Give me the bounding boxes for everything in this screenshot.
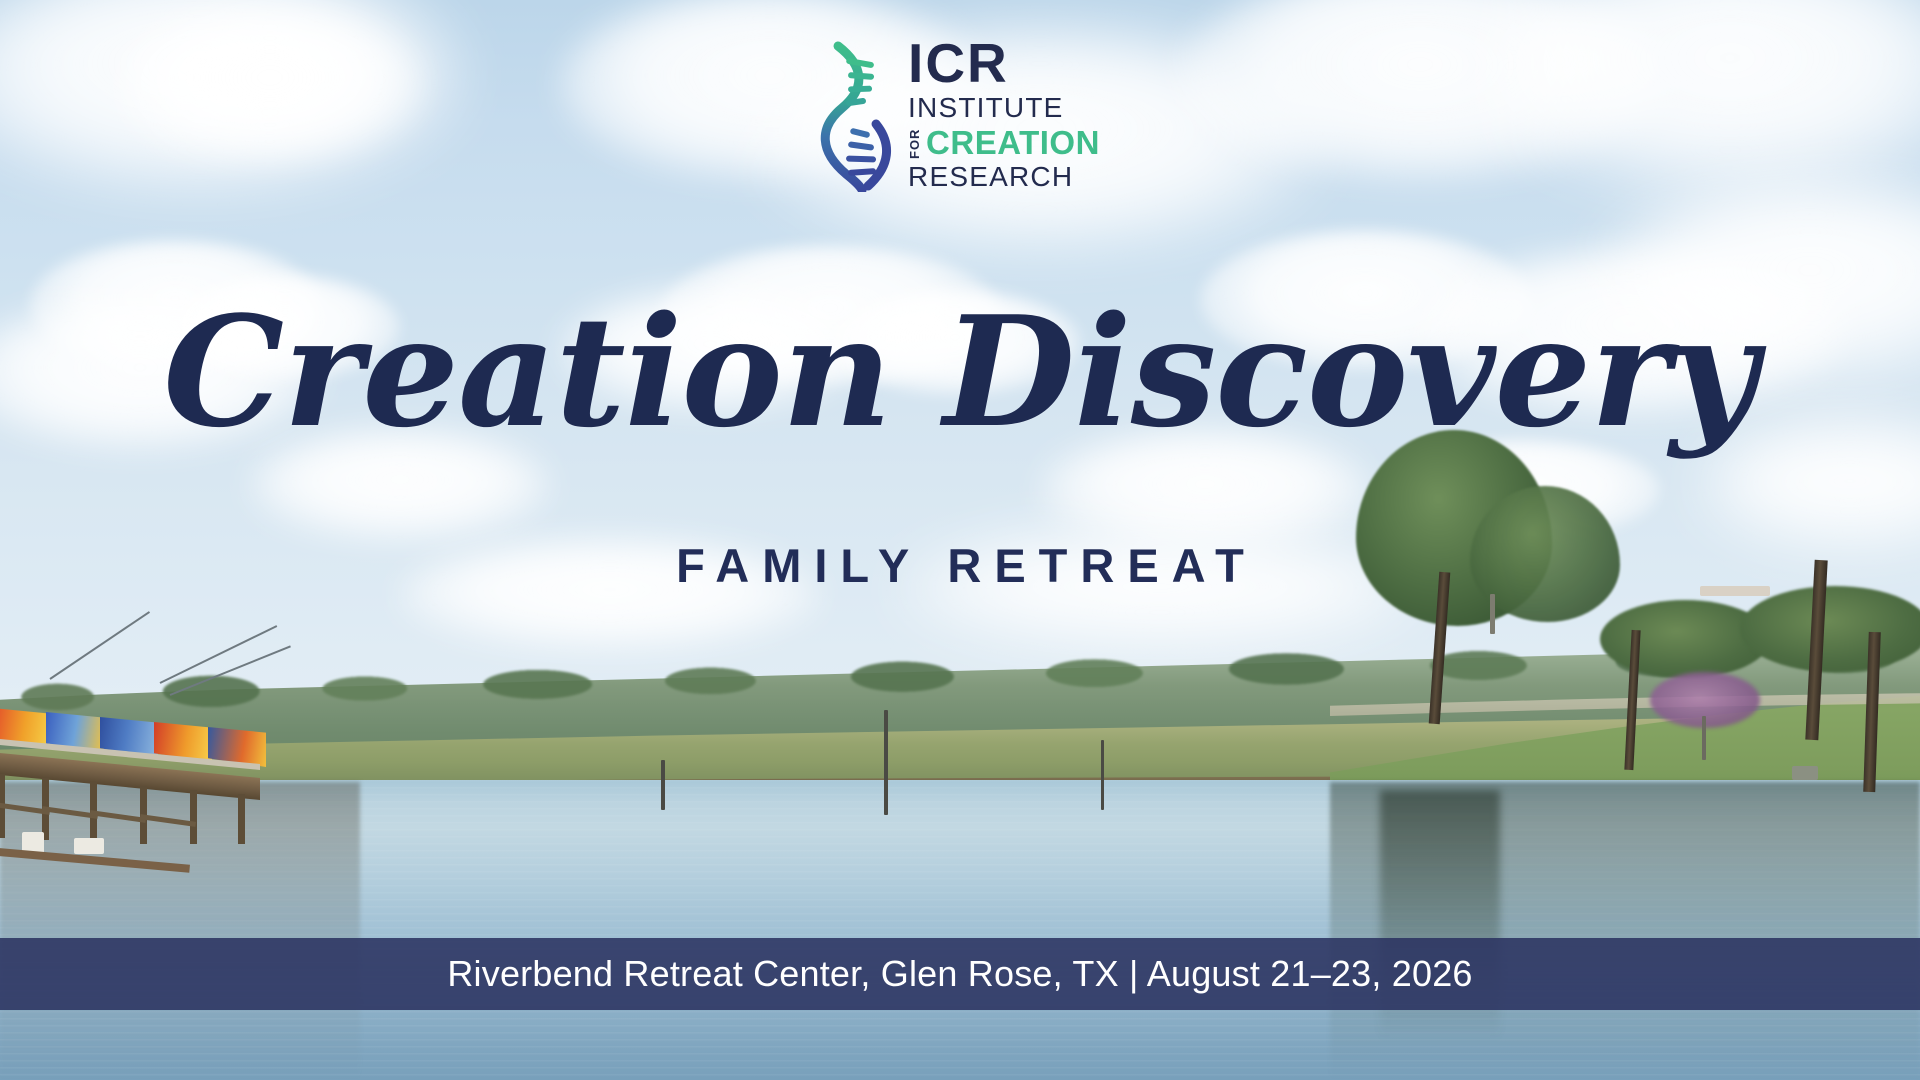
logo-acronym: ICR [908,38,1100,89]
lawn-chair [74,838,104,854]
logo-research-word: RESEARCH [908,162,1100,193]
venue-date-banner: Riverbend Retreat Center, Glen Rose, TX … [0,938,1920,1010]
lake-post [661,760,665,810]
dna-helix-icon [820,40,894,192]
logo-for-word: FOR [908,125,921,159]
dock-piling [190,790,197,844]
dock-piling [238,794,245,844]
lake-post [884,710,888,815]
park-bench [1792,766,1818,780]
dock-structure [0,690,290,870]
logo-institute-word: INSTITUTE [908,93,1100,124]
event-title-script: Creation Discovery [0,292,1920,452]
logo-wordmark: ICR INSTITUTE FOR CREATION RESEARCH [908,38,1100,193]
cloud [120,10,420,160]
path-post [1702,716,1706,760]
utility-pole [1490,594,1495,634]
dock-brace [140,814,196,827]
event-subtitle: FAMILY RETREAT [0,538,1920,593]
lake-post [1101,740,1104,810]
icr-logo[interactable]: ICR INSTITUTE FOR CREATION RESEARCH [820,38,1100,193]
logo-for-creation-row: FOR CREATION [908,125,1100,159]
shrub [1740,586,1920,672]
dock-brace [90,810,146,823]
venue-date-text: Riverbend Retreat Center, Glen Rose, TX … [447,953,1472,995]
retreat-promo-poster: ICR INSTITUTE FOR CREATION RESEARCH Crea… [0,0,1920,1080]
logo-creation-word: CREATION [926,126,1100,159]
